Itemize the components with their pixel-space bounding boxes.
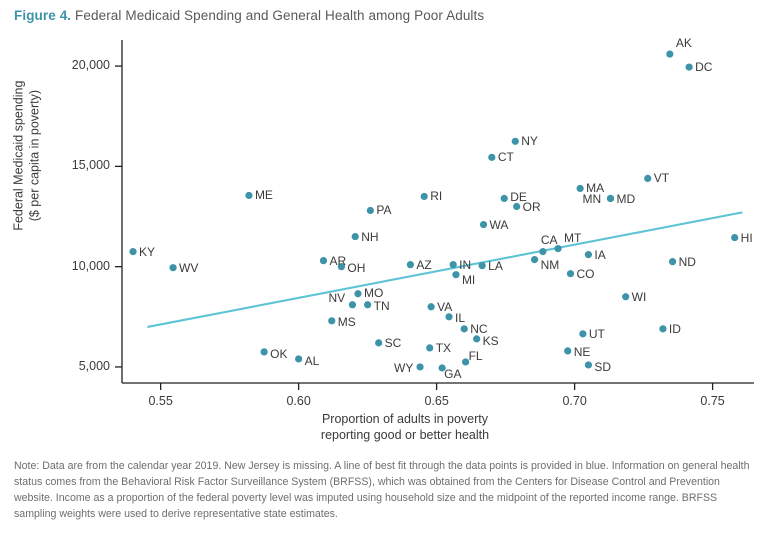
data-point-ct[interactable] — [488, 154, 495, 161]
point-label-fl: FL — [469, 350, 483, 362]
point-label-vt: VT — [654, 172, 669, 184]
data-point-wa[interactable] — [480, 221, 487, 228]
data-point-nc[interactable] — [461, 325, 468, 332]
data-point-la[interactable] — [479, 262, 486, 269]
point-label-az: AZ — [416, 259, 431, 271]
point-label-ut: UT — [589, 328, 605, 340]
point-label-nm: NM — [541, 259, 560, 271]
data-point-ia[interactable] — [585, 251, 592, 258]
data-point-de[interactable] — [501, 195, 508, 202]
data-point-il[interactable] — [445, 313, 452, 320]
data-point-hi[interactable] — [731, 234, 738, 241]
data-point-pa[interactable] — [367, 207, 374, 214]
point-label-ny: NY — [521, 135, 538, 147]
data-point-nv[interactable] — [349, 301, 356, 308]
data-point-id[interactable] — [659, 325, 666, 332]
point-label-wy: WY — [394, 362, 413, 374]
point-label-hi: HI — [741, 232, 753, 244]
data-point-va[interactable] — [428, 303, 435, 310]
x-axis-title-line1: Proportion of adults in poverty — [322, 412, 488, 426]
data-point-ks[interactable] — [473, 335, 480, 342]
point-label-ak: AK — [676, 37, 692, 49]
note-divider — [0, 449, 768, 450]
data-point-nd[interactable] — [669, 258, 676, 265]
point-label-tx: TX — [436, 342, 451, 354]
y-tick-label: 20,000 — [42, 58, 110, 72]
y-tick-label: 15,000 — [42, 158, 110, 172]
data-point-vt[interactable] — [644, 175, 651, 182]
data-point-in[interactable] — [450, 261, 457, 268]
y-axis-ticks — [115, 66, 122, 367]
scatter-chart: Federal Medicaid spending ($ per capita … — [0, 28, 768, 448]
point-label-ct: CT — [498, 151, 514, 163]
data-point-ok[interactable] — [261, 348, 268, 355]
point-label-ms: MS — [338, 316, 356, 328]
data-point-co[interactable] — [567, 270, 574, 277]
data-point-tn[interactable] — [364, 301, 371, 308]
point-label-ca: CA — [541, 234, 558, 246]
data-markers — [129, 50, 738, 371]
data-point-tx[interactable] — [426, 344, 433, 351]
point-label-ok: OK — [270, 348, 287, 360]
point-label-in: IN — [459, 259, 471, 271]
x-axis-title: Proportion of adults in poverty reportin… — [270, 412, 540, 443]
point-label-co: CO — [576, 268, 594, 280]
x-tick-label: 0.70 — [545, 394, 605, 408]
data-point-ri[interactable] — [421, 193, 428, 200]
point-label-mt: MT — [564, 232, 581, 244]
point-label-ia: IA — [594, 249, 605, 261]
point-label-il: IL — [455, 312, 465, 324]
data-point-mi[interactable] — [452, 271, 459, 278]
point-label-pa: PA — [376, 204, 391, 216]
point-label-wi: WI — [632, 291, 647, 303]
point-label-nh: NH — [361, 231, 378, 243]
x-tick-label: 0.55 — [131, 394, 191, 408]
y-axis-title: Federal Medicaid spending ($ per capita … — [11, 51, 42, 261]
point-label-mo: MO — [364, 287, 383, 299]
data-point-nm[interactable] — [531, 256, 538, 263]
data-point-ar[interactable] — [320, 257, 327, 264]
data-point-ak[interactable] — [666, 50, 673, 57]
data-point-nh[interactable] — [352, 233, 359, 240]
point-label-me: ME — [255, 189, 273, 201]
point-label-al: AL — [305, 355, 320, 367]
x-axis-ticks — [161, 383, 713, 390]
point-label-mi: MI — [462, 274, 475, 286]
point-label-nd: ND — [679, 256, 696, 268]
x-tick-label: 0.75 — [683, 394, 743, 408]
data-point-ca[interactable] — [539, 248, 546, 255]
x-axis-title-line2: reporting good or better health — [321, 428, 489, 442]
data-point-ma[interactable] — [577, 185, 584, 192]
point-label-sc: SC — [385, 337, 402, 349]
point-label-ar: AR — [329, 255, 346, 267]
point-label-dc: DC — [695, 61, 712, 73]
y-tick-label: 5,000 — [42, 359, 110, 373]
point-label-ks: KS — [483, 335, 499, 347]
data-point-dc[interactable] — [686, 63, 693, 70]
data-point-ny[interactable] — [512, 138, 519, 145]
y-tick-label: 10,000 — [42, 259, 110, 273]
data-point-ms[interactable] — [328, 317, 335, 324]
data-point-wy[interactable] — [416, 363, 423, 370]
point-label-mn: MN — [582, 193, 601, 205]
point-label-sd: SD — [594, 361, 611, 373]
figure-title: Figure 4. Federal Medicaid Spending and … — [14, 8, 484, 23]
point-label-va: VA — [437, 301, 452, 313]
data-point-mn[interactable] — [607, 195, 614, 202]
data-point-ky[interactable] — [129, 248, 136, 255]
data-point-wv[interactable] — [169, 264, 176, 271]
point-label-oh: OH — [347, 262, 365, 274]
point-label-la: LA — [488, 260, 503, 272]
point-label-ri: RI — [430, 190, 442, 202]
figure-number: Figure 4. — [14, 8, 71, 23]
plot-svg — [0, 28, 768, 448]
data-point-sc[interactable] — [375, 339, 382, 346]
point-label-or: OR — [523, 201, 541, 213]
point-label-wv: WV — [179, 262, 198, 274]
point-label-md: MD — [616, 193, 635, 205]
point-label-tn: TN — [374, 300, 390, 312]
figure-note: Note: Data are from the calendar year 20… — [14, 458, 754, 522]
data-point-sd[interactable] — [585, 361, 592, 368]
point-label-ky: KY — [139, 246, 155, 258]
data-point-mo[interactable] — [354, 290, 361, 297]
point-label-nv: NV — [328, 292, 345, 304]
y-axis-title-line2: ($ per capita in poverty) — [27, 90, 41, 221]
y-axis-title-line1: Federal Medicaid spending — [11, 81, 25, 231]
point-label-id: ID — [669, 323, 681, 335]
point-label-ga: GA — [444, 368, 461, 380]
data-point-ne[interactable] — [564, 347, 571, 354]
data-point-al[interactable] — [295, 355, 302, 362]
data-point-me[interactable] — [245, 192, 252, 199]
data-point-ut[interactable] — [579, 330, 586, 337]
data-point-wi[interactable] — [622, 293, 629, 300]
point-label-wa: WA — [490, 219, 509, 231]
x-tick-label: 0.65 — [407, 394, 467, 408]
point-label-ne: NE — [574, 346, 591, 358]
figure-title-text: Federal Medicaid Spending and General He… — [75, 8, 484, 23]
x-tick-label: 0.60 — [269, 394, 329, 408]
data-point-az[interactable] — [407, 261, 414, 268]
